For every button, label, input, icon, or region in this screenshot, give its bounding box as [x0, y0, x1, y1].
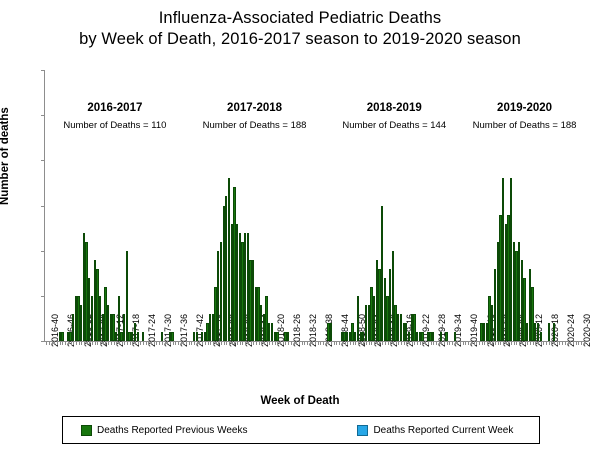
- x-axis-tick-mark: [516, 341, 517, 345]
- bar: [330, 323, 332, 341]
- x-axis-tick-mark: [143, 341, 144, 345]
- x-axis-tick-mark: [406, 341, 407, 345]
- x-axis-tick-mark: [296, 341, 297, 345]
- x-axis-tick-mark: [463, 341, 464, 345]
- x-axis-tick-mark: [97, 341, 98, 345]
- x-axis-tick-mark: [441, 341, 442, 345]
- x-axis-tick-mark: [422, 341, 423, 345]
- bar: [161, 332, 163, 341]
- x-axis-tick-mark: [269, 341, 270, 345]
- x-axis-tick-mark: [178, 341, 179, 345]
- chart-title-line2: by Week of Death, 2016-2017 season to 20…: [0, 29, 600, 50]
- x-axis-tick-mark: [581, 341, 582, 345]
- x-axis-tick-mark: [527, 341, 528, 345]
- x-axis-tick-mark: [562, 341, 563, 345]
- x-axis-tick-mark: [170, 341, 171, 345]
- x-axis-tick-mark: [259, 341, 260, 345]
- x-axis-tick-mark: [272, 341, 273, 345]
- x-axis-tick-mark: [79, 341, 80, 345]
- bar: [454, 332, 456, 341]
- x-axis-tick-mark: [194, 341, 195, 345]
- x-axis-tick-mark: [95, 341, 96, 345]
- x-axis-tick-mark: [433, 341, 434, 345]
- season-label: 2017-2018: [185, 102, 325, 114]
- x-axis-tick-mark: [428, 341, 429, 345]
- x-axis-tick-mark: [114, 341, 115, 345]
- x-axis-tick-mark: [519, 341, 520, 345]
- x-axis-tick-mark: [54, 341, 55, 345]
- x-axis-tick-mark: [358, 341, 359, 345]
- x-axis-tick-mark: [492, 341, 493, 345]
- x-axis-tick-mark: [232, 341, 233, 345]
- x-axis-tick-mark: [159, 341, 160, 345]
- x-axis-tick-mark: [361, 341, 362, 345]
- x-axis-tick-mark: [162, 341, 163, 345]
- x-axis-tick-mark: [465, 341, 466, 345]
- chart-title-line1: Influenza-Associated Pediatric Deaths: [0, 8, 600, 29]
- bar: [548, 323, 550, 341]
- x-axis-tick-mark: [291, 341, 292, 345]
- x-axis-tick-mark: [551, 341, 552, 345]
- x-axis-tick-mark: [76, 341, 77, 345]
- x-axis-tick-mark: [495, 341, 496, 345]
- x-axis-tick-mark: [135, 341, 136, 345]
- x-axis-tick-mark: [431, 341, 432, 345]
- x-axis-tick-mark: [549, 341, 550, 345]
- x-axis-tick-mark: [240, 341, 241, 345]
- x-axis-tick-mark: [100, 341, 101, 345]
- x-axis-tick-mark: [455, 341, 456, 345]
- x-axis-tick-mark: [506, 341, 507, 345]
- x-axis-tick-mark: [578, 341, 579, 345]
- x-axis-tick-mark: [267, 341, 268, 345]
- x-axis-tick-mark: [312, 341, 313, 345]
- x-axis-tick-mark: [288, 341, 289, 345]
- x-axis-tick-mark: [570, 341, 571, 345]
- x-axis-tick-mark: [116, 341, 117, 345]
- x-axis-tick-mark: [363, 341, 364, 345]
- x-axis-tick-mark: [414, 341, 415, 345]
- x-axis-tick-mark: [409, 341, 410, 345]
- x-axis-tick-mark: [439, 341, 440, 345]
- x-axis-tick-mark: [256, 341, 257, 345]
- x-axis-tick-mark: [197, 341, 198, 345]
- x-axis-tick-mark: [420, 341, 421, 345]
- x-axis-tick-mark: [71, 341, 72, 345]
- x-axis-tick-mark: [559, 341, 560, 345]
- x-axis-tick-mark: [127, 341, 128, 345]
- x-axis-tick-mark: [132, 341, 133, 345]
- x-axis-tick-mark: [294, 341, 295, 345]
- x-axis-tick-mark: [242, 341, 243, 345]
- x-axis-tick-mark: [57, 341, 58, 345]
- x-axis-tick-mark: [345, 341, 346, 345]
- x-axis-tick-mark: [175, 341, 176, 345]
- season-annotation: 2018-2019Number of Deaths = 144: [324, 102, 464, 131]
- x-axis-tick-mark: [103, 341, 104, 345]
- y-axis-title: Number of deaths: [0, 107, 11, 205]
- x-axis-tick-mark: [148, 341, 149, 345]
- bar: [276, 332, 278, 341]
- x-axis-tick-mark: [543, 341, 544, 345]
- legend-swatch-previous: [81, 425, 92, 436]
- x-axis-tick-mark: [538, 341, 539, 345]
- x-axis-tick-mark: [261, 341, 262, 345]
- legend-label: Deaths Reported Previous Weeks: [97, 425, 247, 436]
- x-axis-tick-mark: [369, 341, 370, 345]
- season-annotation: 2016-2017Number of Deaths = 110: [45, 102, 185, 131]
- season-death-count: Number of Deaths = 188: [455, 120, 595, 131]
- x-axis-tick-mark: [320, 341, 321, 345]
- x-axis-tick-mark: [568, 341, 569, 345]
- x-axis-tick-mark: [68, 341, 69, 345]
- x-axis-tick-mark: [151, 341, 152, 345]
- x-axis-tick-mark: [508, 341, 509, 345]
- x-axis-tick-mark: [479, 341, 480, 345]
- x-axis-tick-mark: [302, 341, 303, 345]
- x-axis-tick-mark: [339, 341, 340, 345]
- x-axis-tick-mark: [347, 341, 348, 345]
- x-axis-tick-mark: [191, 341, 192, 345]
- x-axis-tick-mark: [138, 341, 139, 345]
- x-axis-tick-mark: [484, 341, 485, 345]
- x-axis-tick-mark: [307, 341, 308, 345]
- x-axis-tick-mark: [511, 341, 512, 345]
- x-axis-tick-mark: [554, 341, 555, 345]
- x-axis-tick-mark: [264, 341, 265, 345]
- x-axis-tick-mark: [299, 341, 300, 345]
- x-axis-tick-mark: [283, 341, 284, 345]
- x-axis-tick-mark: [382, 341, 383, 345]
- x-axis-tick-mark: [310, 341, 311, 345]
- bar: [432, 332, 434, 341]
- x-axis-tick-mark: [398, 341, 399, 345]
- x-axis-tick-mark: [444, 341, 445, 345]
- x-axis-tick-mark: [234, 341, 235, 345]
- x-axis-tick-mark: [277, 341, 278, 345]
- x-axis-tick-mark: [92, 341, 93, 345]
- x-axis-tick-mark: [210, 341, 211, 345]
- x-axis-tick-mark: [326, 341, 327, 345]
- x-axis-tick-mark: [89, 341, 90, 345]
- season-death-count: Number of Deaths = 144: [324, 120, 464, 131]
- x-axis-tick-mark: [285, 341, 286, 345]
- x-axis-tick-mark: [226, 341, 227, 345]
- x-axis-tick-mark: [208, 341, 209, 345]
- x-axis-tick-mark: [417, 341, 418, 345]
- season-death-count: Number of Deaths = 188: [185, 120, 325, 131]
- x-axis-tick-mark: [355, 341, 356, 345]
- x-axis-tick-mark: [353, 341, 354, 345]
- x-axis-tick-mark: [280, 341, 281, 345]
- x-axis-tick-mark: [275, 341, 276, 345]
- season-annotation: 2017-2018Number of Deaths = 188: [185, 102, 325, 131]
- bar: [126, 251, 128, 341]
- x-axis-tick-mark: [468, 341, 469, 345]
- x-axis-tick-mark: [245, 341, 246, 345]
- bar: [421, 332, 423, 341]
- bar: [171, 332, 173, 341]
- bar: [142, 332, 144, 341]
- x-axis-tick-mark: [49, 341, 50, 345]
- x-axis-tick-mark: [388, 341, 389, 345]
- x-axis-tick-mark: [393, 341, 394, 345]
- bar: [137, 332, 139, 341]
- x-axis-tick-mark: [304, 341, 305, 345]
- x-axis-tick-mark: [396, 341, 397, 345]
- season-label: 2016-2017: [45, 102, 185, 114]
- x-axis-tick-mark: [390, 341, 391, 345]
- x-axis-tick-mark: [576, 341, 577, 345]
- x-axis-tick-mark: [350, 341, 351, 345]
- legend-item: Deaths Reported Current Week: [357, 425, 513, 436]
- x-axis-tick-mark: [436, 341, 437, 345]
- x-axis-tick-mark: [404, 341, 405, 345]
- x-axis-tick-mark: [87, 341, 88, 345]
- x-axis-tick-mark: [412, 341, 413, 345]
- x-axis-tick-mark: [452, 341, 453, 345]
- x-axis-tick-mark: [202, 341, 203, 345]
- x-axis-tick-mark: [65, 341, 66, 345]
- x-axis-tick-mark: [498, 341, 499, 345]
- bar: [196, 332, 198, 341]
- x-axis-tick-mark: [503, 341, 504, 345]
- x-axis-tick-mark: [487, 341, 488, 345]
- x-axis-tick-mark: [105, 341, 106, 345]
- x-axis-tick-mark: [584, 341, 585, 345]
- x-axis-tick-mark: [248, 341, 249, 345]
- x-axis-tick-mark: [224, 341, 225, 345]
- x-axis-tick-mark: [323, 341, 324, 345]
- x-axis-tick-mark: [331, 341, 332, 345]
- x-axis-tick-mark: [449, 341, 450, 345]
- x-axis-tick-mark: [146, 341, 147, 345]
- x-axis-tick-mark: [514, 341, 515, 345]
- x-axis-tick-mark: [500, 341, 501, 345]
- x-axis-tick-mark: [186, 341, 187, 345]
- season-label: 2018-2019: [324, 102, 464, 114]
- x-axis-tick-mark: [530, 341, 531, 345]
- x-axis-tick-mark: [401, 341, 402, 345]
- x-axis-tick-mark: [73, 341, 74, 345]
- bar: [445, 332, 447, 341]
- x-axis-tick-mark: [253, 341, 254, 345]
- x-axis-tick-mark: [474, 341, 475, 345]
- x-axis-tick-mark: [482, 341, 483, 345]
- x-axis-tick-mark: [140, 341, 141, 345]
- x-axis-tick-mark: [130, 341, 131, 345]
- x-axis-tick-mark: [205, 341, 206, 345]
- x-axis-tick-mark: [216, 341, 217, 345]
- x-axis-tick-mark: [379, 341, 380, 345]
- x-axis-tick-mark: [315, 341, 316, 345]
- x-axis-tick-mark: [189, 341, 190, 345]
- x-axis-tick-mark: [342, 341, 343, 345]
- x-axis-tick-mark: [81, 341, 82, 345]
- x-axis-tick-mark: [565, 341, 566, 345]
- x-axis-tick-mark: [218, 341, 219, 345]
- bar: [61, 332, 63, 341]
- x-axis-tick-mark: [546, 341, 547, 345]
- x-axis-tick-mark: [62, 341, 63, 345]
- legend-swatch-current: [357, 425, 368, 436]
- x-axis-tick-mark: [84, 341, 85, 345]
- x-axis-tick-mark: [371, 341, 372, 345]
- x-axis-tick-mark: [124, 341, 125, 345]
- season-label: 2019-2020: [455, 102, 595, 114]
- x-axis-tick-mark: [447, 341, 448, 345]
- x-axis-tick-mark: [522, 341, 523, 345]
- x-axis-tick-mark: [237, 341, 238, 345]
- x-axis-tick-mark: [213, 341, 214, 345]
- x-axis-tick-mark: [108, 341, 109, 345]
- x-axis-tick-mark: [471, 341, 472, 345]
- x-axis-tick-mark: [46, 341, 47, 345]
- x-axis-tick-mark: [60, 341, 61, 345]
- plot-area: 051015202530 2016-402016-462016-522017-0…: [44, 70, 585, 342]
- bar: [540, 332, 542, 341]
- y-axis-tick-mark: [41, 341, 45, 342]
- x-axis-tick-mark: [122, 341, 123, 345]
- x-axis-tick-mark: [318, 341, 319, 345]
- x-axis-tick-mark: [221, 341, 222, 345]
- x-axis-tick-mark: [52, 341, 53, 345]
- x-axis-tick-mark: [199, 341, 200, 345]
- x-axis-tick-mark: [425, 341, 426, 345]
- x-axis-tick-mark: [490, 341, 491, 345]
- x-axis-tick-mark: [377, 341, 378, 345]
- x-axis-tick-mark: [336, 341, 337, 345]
- x-axis-tick-mark: [535, 341, 536, 345]
- chart-legend: Deaths Reported Previous WeeksDeaths Rep…: [62, 416, 540, 444]
- x-axis-tick-mark: [457, 341, 458, 345]
- chart-title: Influenza-Associated Pediatric Deaths by…: [0, 8, 600, 50]
- x-axis-tick-mark: [541, 341, 542, 345]
- x-axis-tick-mark: [165, 341, 166, 345]
- x-axis-tick-mark: [366, 341, 367, 345]
- x-axis-tick-mark: [173, 341, 174, 345]
- x-axis-tick-mark: [525, 341, 526, 345]
- season-annotation: 2019-2020Number of Deaths = 188: [455, 102, 595, 131]
- bar: [553, 323, 555, 341]
- x-axis-tick-mark: [111, 341, 112, 345]
- x-axis-tick-mark: [251, 341, 252, 345]
- x-axis-tick-mark: [229, 341, 230, 345]
- x-axis-tick-mark: [533, 341, 534, 345]
- x-axis-tick-mark: [476, 341, 477, 345]
- x-axis-tick-mark: [183, 341, 184, 345]
- legend-item: Deaths Reported Previous Weeks: [81, 425, 247, 436]
- legend-label: Deaths Reported Current Week: [373, 425, 513, 436]
- x-axis-tick-mark: [328, 341, 329, 345]
- x-axis-tick-mark: [181, 341, 182, 345]
- bar: [440, 332, 442, 341]
- x-axis-tick-mark: [557, 341, 558, 345]
- x-axis-tick-mark: [119, 341, 120, 345]
- x-axis-tick-mark: [154, 341, 155, 345]
- x-axis-tick-mark: [385, 341, 386, 345]
- x-axis-tick-mark: [374, 341, 375, 345]
- x-axis-tick-mark: [573, 341, 574, 345]
- x-axis-tick-mark: [156, 341, 157, 345]
- x-axis-tick-mark: [167, 341, 168, 345]
- influenza-pediatric-deaths-chart: Influenza-Associated Pediatric Deaths by…: [0, 0, 600, 450]
- x-axis-tick-mark: [460, 341, 461, 345]
- season-death-count: Number of Deaths = 110: [45, 120, 185, 131]
- x-axis-title: Week of Death: [0, 395, 600, 407]
- x-axis-tick-mark: [334, 341, 335, 345]
- bar: [287, 332, 289, 341]
